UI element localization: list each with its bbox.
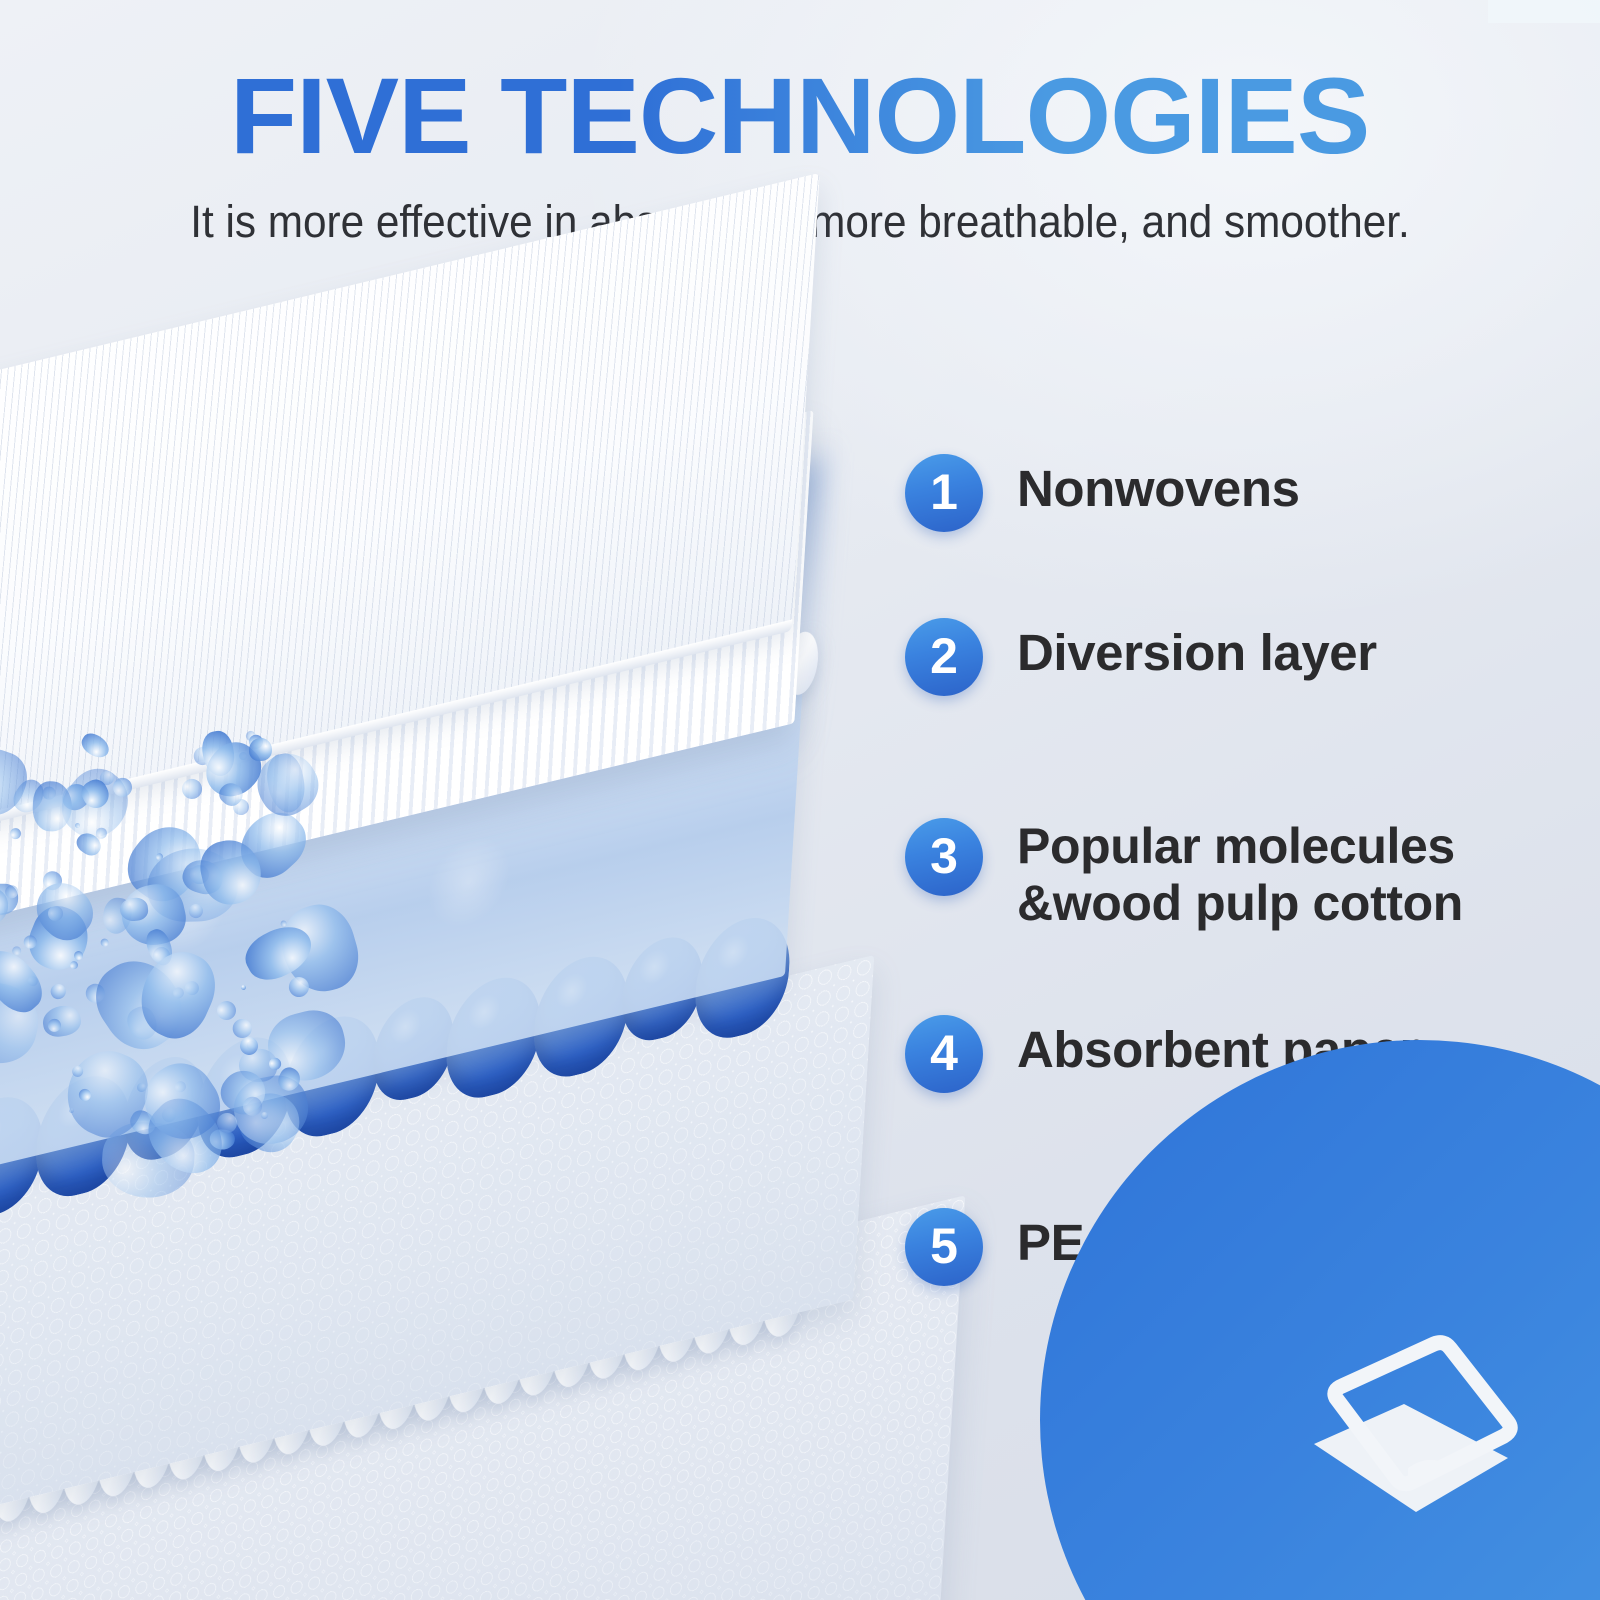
corner-brand-badge (1040, 1040, 1600, 1600)
legend-item-1[interactable]: 1 Nonwovens (905, 454, 1300, 532)
legend-number-badge-1: 1 (905, 454, 983, 532)
legend-label-2: Diversion layer (1017, 618, 1377, 681)
legend-number-badge-5: 5 (905, 1208, 983, 1286)
legend-label-1: Nonwovens (1017, 454, 1300, 517)
infographic-canvas: FIVE TECHNOLOGIES It is more effective i… (0, 0, 1600, 1600)
product-layer-illustration (0, 300, 1000, 1600)
legend-label-3: Popular molecules &wood pulp cotton (1017, 818, 1463, 932)
legend-number-badge-2: 2 (905, 618, 983, 696)
stacked-pads-icon (1296, 1326, 1526, 1526)
legend-item-2[interactable]: 2 Diversion layer (905, 618, 1377, 696)
legend-number-badge-4: 4 (905, 1015, 983, 1093)
legend-item-3[interactable]: 3 Popular molecules &wood pulp cotton (905, 818, 1463, 932)
legend-number-badge-3: 3 (905, 818, 983, 896)
